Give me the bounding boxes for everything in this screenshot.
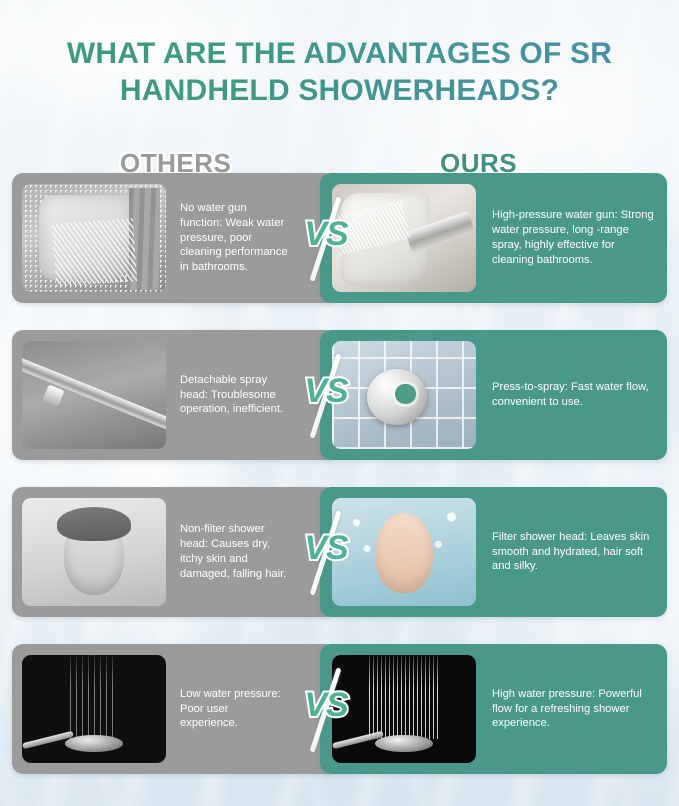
ours-description: Press-to-spray: Fast water flow, conveni…: [476, 380, 667, 410]
hydrated-smiling-face-photo: [332, 498, 476, 606]
page-title: WHAT ARE THE ADVANTAGES OF SR HANDHELD S…: [0, 36, 679, 109]
detachable-spray-head-photo: [22, 341, 166, 449]
ours-description: High water pressure: Powerful flow for a…: [476, 687, 667, 732]
ours-panel: High-pressure water gun: Strong water pr…: [320, 173, 667, 303]
others-panel: Low water pressure: Poor user experience…: [12, 644, 336, 774]
ours-description: Filter shower head: Leaves skin smooth a…: [476, 530, 667, 575]
infographic-page: WHAT ARE THE ADVANTAGES OF SR HANDHELD S…: [0, 0, 679, 806]
others-description: Non-filter shower head: Causes dry, itch…: [166, 522, 336, 582]
comparison-row: No water gun function: Weak water pressu…: [0, 173, 679, 303]
high-pressure-water-gun-photo: [332, 184, 476, 292]
high-pressure-showerhead-photo: [332, 655, 476, 763]
others-panel: Detachable spray head: Troublesome opera…: [12, 330, 336, 460]
ours-panel: Filter shower head: Leaves skin smooth a…: [320, 487, 667, 617]
water-spray-overlay: [52, 218, 137, 286]
low-pressure-showerhead-photo: [22, 655, 166, 763]
others-panel: No water gun function: Weak water pressu…: [12, 173, 336, 303]
ours-description: High-pressure water gun: Strong water pr…: [476, 208, 667, 268]
ours-panel: Press-to-spray: Fast water flow, conveni…: [320, 330, 667, 460]
others-description: Detachable spray head: Troublesome opera…: [166, 373, 336, 418]
comparison-row: Low water pressure: Poor user experience…: [0, 644, 679, 774]
comparison-row: Non-filter shower head: Causes dry, itch…: [0, 487, 679, 617]
shower-hose-icon: [332, 731, 384, 750]
shower-hose-icon: [22, 731, 74, 750]
dull-skin-face-photo: [22, 498, 166, 606]
others-description: No water gun function: Weak water pressu…: [166, 201, 336, 275]
comparison-row: Detachable spray head: Troublesome opera…: [0, 330, 679, 460]
others-panel: Non-filter shower head: Causes dry, itch…: [12, 487, 336, 617]
press-to-spray-hand-photo: [332, 341, 476, 449]
ours-panel: High water pressure: Powerful flow for a…: [320, 644, 667, 774]
water-spray-overlay: [332, 200, 411, 255]
others-description: Low water pressure: Poor user experience…: [166, 687, 336, 732]
bathtub-spray-photo: [22, 184, 166, 292]
